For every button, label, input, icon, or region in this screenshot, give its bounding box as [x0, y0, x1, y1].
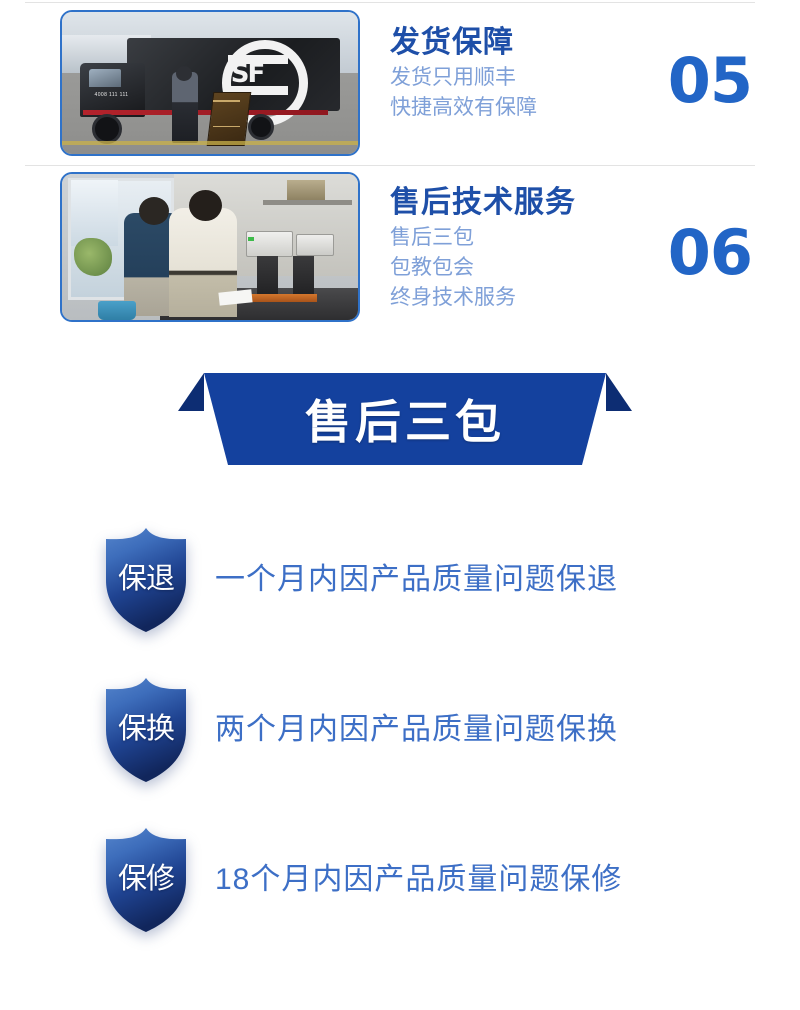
feature-subtitle-2: 快捷高效有保障	[390, 92, 537, 122]
banner-title: 售后三包	[178, 373, 632, 465]
lab-instrument-1	[246, 231, 293, 257]
lab-photo-canvas	[62, 174, 358, 320]
guarantee-row-warranty: 保修 18个月内因产品质量问题保修	[0, 820, 800, 970]
feature-subtitle-1: 售后三包	[390, 222, 576, 252]
blue-bucket	[98, 301, 136, 320]
truck-red-stripe	[83, 110, 329, 115]
guarantee-list: 保退 一个月内因产品质量问题保退 保换	[0, 520, 800, 970]
shield-label: 保修	[100, 826, 192, 934]
feature-subtitle-1: 发货只用顺丰	[390, 62, 537, 92]
feature-title: 发货保障	[390, 24, 537, 62]
truck-photo-canvas: SF 4008 111 111	[62, 12, 358, 154]
feature-row-shipping: SF 4008 111 111 发货保障 发货只用顺丰 快捷高效有保障 05	[0, 10, 800, 160]
instrument-led-icon	[248, 237, 254, 241]
feature-number: 05	[668, 44, 752, 117]
lab-instrument-2	[296, 234, 334, 256]
section-banner: 售后三包	[0, 368, 800, 476]
divider-middle	[25, 165, 755, 166]
guarantee-text: 一个月内因产品质量问题保退	[215, 554, 618, 598]
product-detail-page: SF 4008 111 111 发货保障 发货只用顺丰 快捷高效有保障 05	[0, 0, 800, 1010]
sf-logo-text-icon: SF	[231, 59, 287, 89]
feature-subtitle-2: 包教包会	[390, 252, 576, 282]
feature-number: 06	[668, 216, 752, 289]
lab-shelf-box	[287, 180, 325, 200]
guarantee-text: 两个月内因产品质量问题保换	[215, 704, 618, 748]
shield-badge-warranty: 保修	[100, 826, 192, 934]
guarantee-row-return: 保退 一个月内因产品质量问题保退	[0, 520, 800, 670]
lab-shelf	[263, 200, 352, 205]
truck-front-wheel	[92, 114, 122, 144]
after-sales-text-block: 售后技术服务 售后三包 包教包会 终身技术服务	[390, 184, 576, 312]
cart-strap-upper	[213, 100, 240, 102]
feature-title: 售后技术服务	[390, 184, 576, 222]
truck-window	[89, 69, 122, 87]
shield-badge-return: 保退	[100, 526, 192, 634]
shield-label: 保退	[100, 526, 192, 634]
cart-strap-lower	[213, 126, 240, 128]
shield-badge-exchange: 保换	[100, 676, 192, 784]
truck-rear-wheel	[248, 114, 274, 140]
delivery-worker-head	[176, 66, 192, 81]
after-sales-service-photo	[60, 172, 360, 322]
ribbon-banner: 售后三包	[178, 373, 632, 465]
delivery-worker-body	[172, 72, 199, 143]
guarantee-text: 18个月内因产品质量问题保修	[215, 854, 622, 898]
truck-hotline-text: 4008 111 111	[95, 92, 129, 98]
guarantee-row-exchange: 保换 两个月内因产品质量问题保换	[0, 670, 800, 820]
shipping-truck-photo: SF 4008 111 111	[60, 10, 360, 156]
feature-subtitle-3: 终身技术服务	[390, 282, 576, 312]
shield-label: 保换	[100, 676, 192, 784]
lab-window-pane	[71, 180, 118, 246]
shipping-text-block: 发货保障 发货只用顺丰 快捷高效有保障	[390, 24, 537, 122]
divider-top	[25, 2, 755, 3]
feature-row-after-sales: 售后技术服务 售后三包 包教包会 终身技术服务 06	[0, 172, 800, 324]
ground-marking-line	[62, 141, 358, 145]
